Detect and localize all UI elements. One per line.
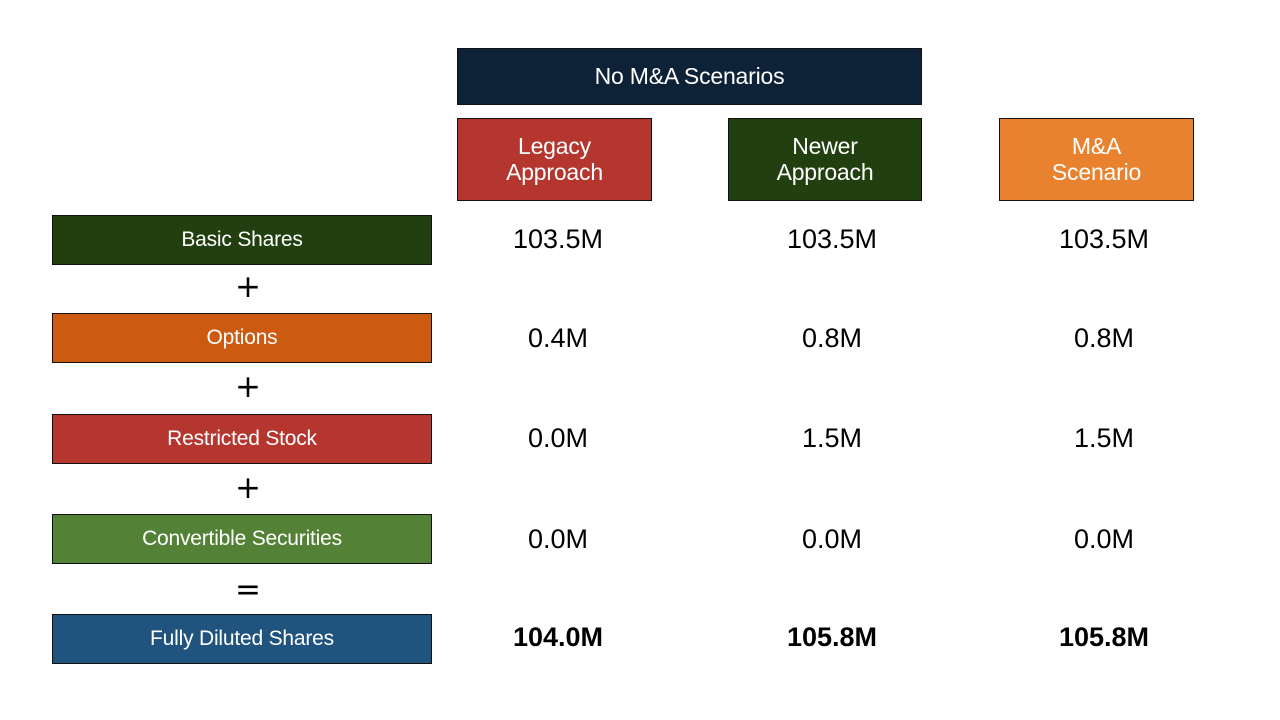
operator-plus-icon-3: + bbox=[218, 473, 278, 504]
row-label-fully-diluted-shares: Fully Diluted Shares bbox=[52, 614, 432, 664]
operator-equals-icon: = bbox=[218, 575, 278, 606]
value-convertible-securities-newer: 0.0M bbox=[722, 526, 942, 553]
value-fully-diluted-shares-legacy: 104.0M bbox=[448, 624, 668, 651]
row-label-options: Options bbox=[52, 313, 432, 363]
value-options-legacy: 0.4M bbox=[448, 325, 668, 352]
column-header-mna-scenario: M&A Scenario bbox=[999, 118, 1194, 201]
operator-plus-icon-2: + bbox=[218, 372, 278, 403]
column-header-legacy-approach: Legacy Approach bbox=[457, 118, 652, 201]
value-restricted-stock-mna: 1.5M bbox=[994, 425, 1214, 452]
value-convertible-securities-legacy: 0.0M bbox=[448, 526, 668, 553]
row-label-basic-shares: Basic Shares bbox=[52, 215, 432, 265]
value-basic-shares-newer: 103.5M bbox=[722, 226, 942, 253]
value-basic-shares-mna: 103.5M bbox=[994, 226, 1214, 253]
no-mna-scenarios-banner: No M&A Scenarios bbox=[457, 48, 922, 105]
row-label-convertible-securities: Convertible Securities bbox=[52, 514, 432, 564]
column-header-newer-approach: Newer Approach bbox=[728, 118, 922, 201]
value-convertible-securities-mna: 0.0M bbox=[994, 526, 1214, 553]
value-fully-diluted-shares-mna: 105.8M bbox=[994, 624, 1214, 651]
share-count-waterfall-table: No M&A Scenarios Legacy Approach Newer A… bbox=[0, 0, 1280, 720]
value-basic-shares-legacy: 103.5M bbox=[448, 226, 668, 253]
value-fully-diluted-shares-newer: 105.8M bbox=[722, 624, 942, 651]
row-label-restricted-stock: Restricted Stock bbox=[52, 414, 432, 464]
operator-plus-icon-1: + bbox=[218, 272, 278, 303]
value-options-mna: 0.8M bbox=[994, 325, 1214, 352]
value-restricted-stock-legacy: 0.0M bbox=[448, 425, 668, 452]
value-options-newer: 0.8M bbox=[722, 325, 942, 352]
value-restricted-stock-newer: 1.5M bbox=[722, 425, 942, 452]
